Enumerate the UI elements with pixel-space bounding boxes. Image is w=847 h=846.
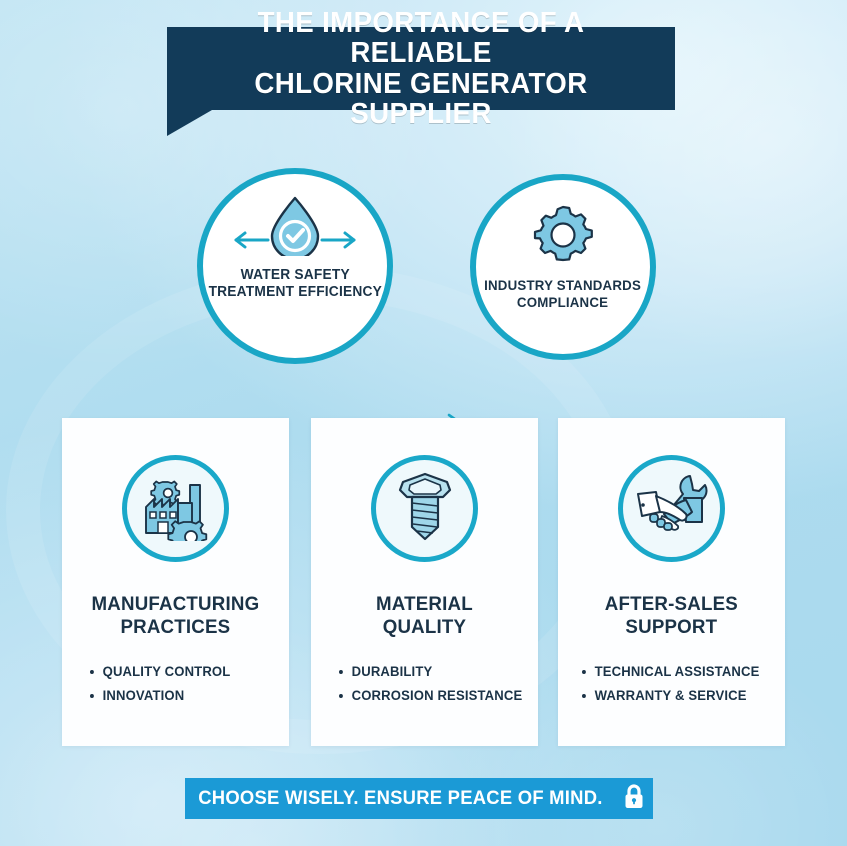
padlock-icon [622,783,646,815]
card-material-quality[interactable]: MATERIAL QUALITY DURABILITY CORROSION RE… [311,418,538,746]
factory-gears-icon [138,471,214,546]
header-banner-box: THE IMPORTANCE OF A RELIABLE CHLORINE GE… [167,27,675,110]
list-item: INNOVATION [90,684,230,707]
card-icon-circle [371,455,478,562]
list-item: CORROSION RESISTANCE [339,684,522,707]
flow-node-industry-standards[interactable]: INDUSTRY STANDARDS COMPLIANCE [470,174,656,360]
card-title: AFTER-SALES SUPPORT [605,593,738,638]
list-item: QUALITY CONTROL [90,660,230,683]
card-bullet-list: DURABILITY CORROSION RESISTANCE [311,660,528,707]
footer-text: CHOOSE WISELY. ENSURE PEACE OF MIND. [198,788,602,810]
page-title: THE IMPORTANCE OF A RELIABLE CHLORINE GE… [175,8,668,129]
list-item: DURABILITY [339,660,522,683]
flow-node-label: INDUSTRY STANDARDS COMPLIANCE [485,277,642,310]
flow-section: WATER SAFETY TREATMENT EFFICIENCY INDUST… [0,160,847,370]
handshake-wrench-icon [632,472,712,545]
header-banner: THE IMPORTANCE OF A RELIABLE CHLORINE GE… [167,27,675,110]
card-title: MANUFACTURING PRACTICES [92,593,260,638]
card-title: MATERIAL QUALITY [376,593,473,638]
footer-banner[interactable]: CHOOSE WISELY. ENSURE PEACE OF MIND. [185,778,653,819]
list-item: WARRANTY & SERVICE [582,684,760,707]
card-after-sales-support[interactable]: AFTER-SALES SUPPORT TECHNICAL ASSISTANCE… [558,418,785,746]
card-icon-circle [122,455,229,562]
card-icon-circle [618,455,725,562]
flow-node-label: WATER SAFETY TREATMENT EFFICIENCY [208,267,381,301]
gear-icon [532,204,594,271]
card-bullet-list: QUALITY CONTROL INNOVATION [62,660,235,707]
cards-section: MANUFACTURING PRACTICES QUALITY CONTROL … [0,418,847,748]
card-manufacturing-practices[interactable]: MANUFACTURING PRACTICES QUALITY CONTROL … [62,418,289,746]
infographic-canvas: THE IMPORTANCE OF A RELIABLE CHLORINE GE… [0,0,847,846]
bolt-screw-icon [393,469,457,548]
flow-node-water-safety[interactable]: WATER SAFETY TREATMENT EFFICIENCY [197,168,393,364]
card-bullet-list: TECHNICAL ASSISTANCE WARRANTY & SERVICE [558,660,765,707]
water-drop-check-icon [230,194,360,261]
list-item: TECHNICAL ASSISTANCE [582,660,760,683]
